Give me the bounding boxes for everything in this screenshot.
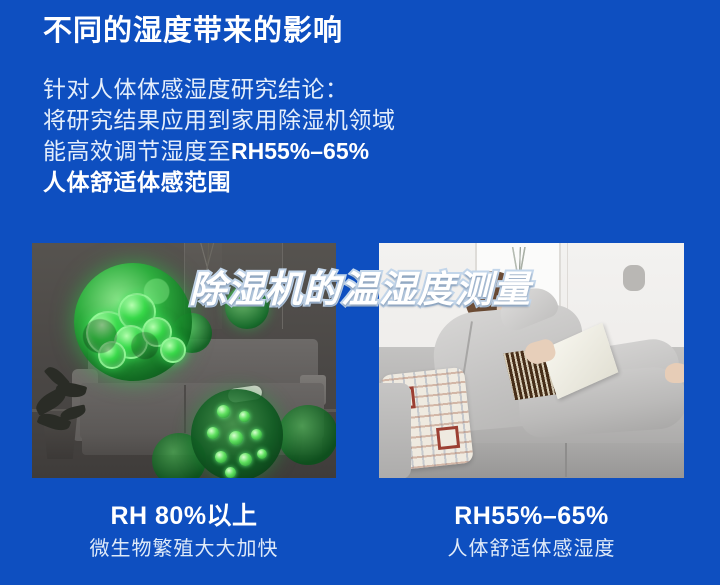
microbe-bud — [86, 311, 130, 355]
virus-spike — [225, 467, 236, 478]
virus-spike — [217, 405, 230, 418]
caption-value: RH 80%以上 — [32, 500, 336, 532]
caption-high-humidity: RH 80%以上 微生物繁殖大大加快 — [32, 500, 336, 562]
cushion-divider — [565, 443, 567, 477]
microbe-bud — [142, 317, 172, 347]
caption-description: 微生物繁殖大大加快 — [32, 536, 336, 562]
virus-spike — [257, 449, 267, 459]
intro-line-3-prefix: 能高效调节湿度至 — [43, 138, 231, 164]
intro-line-3-value: RH55%–65% — [231, 138, 369, 164]
caption-description: 人体舒适体感湿度 — [379, 536, 684, 562]
cushion-divider — [184, 385, 186, 437]
sofa-armrest — [379, 383, 411, 478]
poster-root: 不同的湿度带来的影响 针对人体体感湿度研究结论： 将研究结果应用到家用除湿机领域… — [0, 0, 720, 585]
virus-spike — [239, 453, 252, 466]
overlay-title: 除湿机的温湿度测量 — [0, 271, 720, 308]
microbe-bud — [114, 325, 148, 359]
intro-line-2: 将研究结果应用到家用除湿机领域 — [43, 105, 603, 136]
page-title: 不同的湿度带来的影响 — [43, 14, 343, 49]
virus-spike — [251, 429, 262, 440]
intro-line-4: 人体舒适体感范围 — [43, 167, 603, 198]
caption-comfort-humidity: RH55%–65% 人体舒适体感湿度 — [379, 500, 684, 562]
virus-spike — [207, 427, 219, 439]
virus-spike — [229, 431, 243, 445]
virus-spike — [215, 451, 227, 463]
microbe-bud — [160, 337, 186, 363]
microbe-bud — [98, 341, 126, 369]
intro-line-1: 针对人体体感湿度研究结论： — [43, 74, 603, 105]
caption-value: RH55%–65% — [379, 500, 684, 532]
microbe-sphere — [278, 405, 336, 465]
intro-paragraph: 针对人体体感湿度研究结论： 将研究结果应用到家用除湿机领域 能高效调节湿度至RH… — [43, 74, 603, 198]
virus-spike — [239, 411, 250, 422]
intro-line-3: 能高效调节湿度至RH55%–65% — [43, 136, 603, 167]
person-foot — [665, 363, 684, 383]
pillow-motif — [436, 426, 460, 450]
microbe-virus — [191, 389, 283, 478]
